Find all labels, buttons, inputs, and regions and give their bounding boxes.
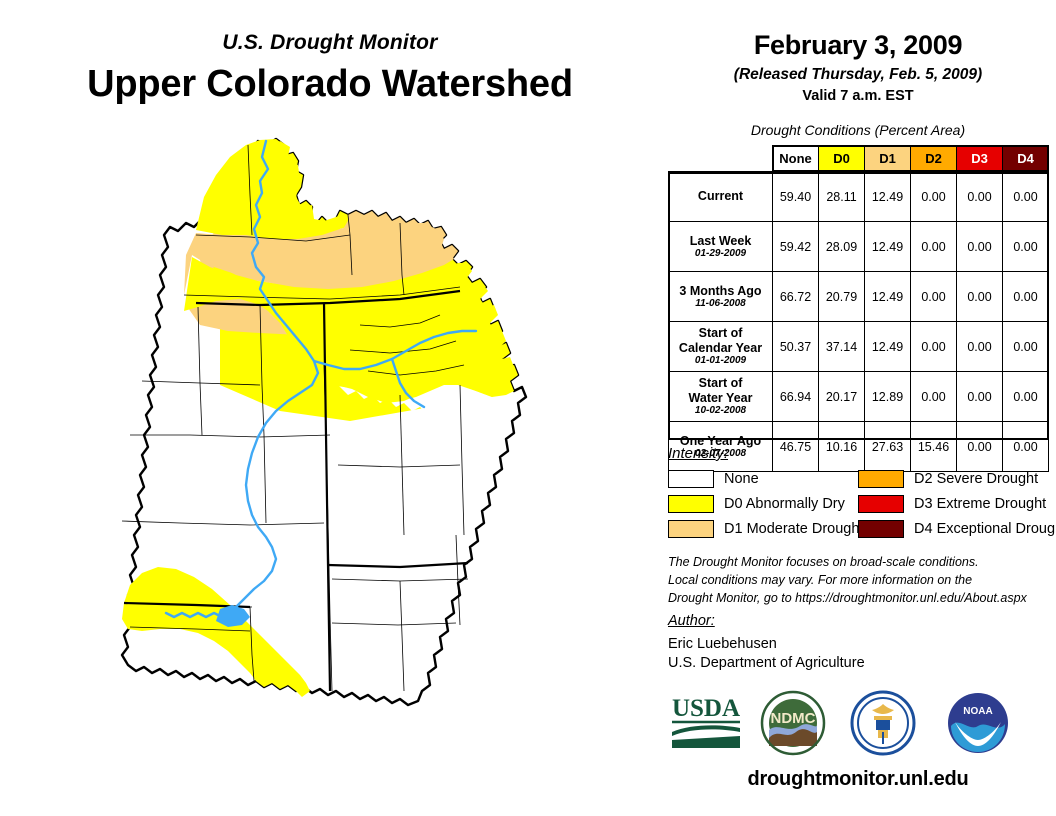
row-label: 3 Months Ago11-06-2008 <box>669 272 773 322</box>
table-cell-d4: 0.00 <box>1003 272 1049 322</box>
table-cell-d1: 12.49 <box>865 322 911 372</box>
table-cell-d0: 28.11 <box>819 172 865 222</box>
row-label-text: 3 Months Ago <box>672 284 769 298</box>
usda-logo-text: USDA <box>672 695 740 722</box>
info-panel: February 3, 2009 (Released Thursday, Feb… <box>660 0 1056 816</box>
table-cell-d0: 20.17 <box>819 372 865 422</box>
logo-row: USDA NDMC <box>660 690 1056 770</box>
map-panel: U.S. Drought Monitor Upper Colorado Wate… <box>0 0 660 816</box>
table-cell-d3: 0.00 <box>957 172 1003 222</box>
table-cell-none: 59.40 <box>773 172 819 222</box>
row-label: Last Week01-29-2009 <box>669 222 773 272</box>
table-cell-d1: 27.63 <box>865 422 911 472</box>
row-label: Start ofCalendar Year01-01-2009 <box>669 322 773 372</box>
note-line: Drought Monitor, go to https://droughtmo… <box>668 590 1050 608</box>
legend-item: None <box>668 466 863 491</box>
table-cell-d1: 12.49 <box>865 172 911 222</box>
table-row: Start ofWater Year10-02-200866.9420.1712… <box>669 372 1049 422</box>
doc-logo <box>850 690 916 761</box>
header-spacer <box>669 146 773 172</box>
legend-label: D3 Extreme Drought <box>914 496 1046 512</box>
drought-monitor-page: U.S. Drought Monitor Upper Colorado Wate… <box>0 0 1056 816</box>
table-cell-none: 66.72 <box>773 272 819 322</box>
row-label-text: Calendar Year <box>672 341 769 355</box>
noaa-logo: NOAA <box>945 690 1011 761</box>
author-organization: U.S. Department of Agriculture <box>668 655 865 671</box>
watershed-map[interactable] <box>100 135 600 815</box>
row-label-text: Last Week <box>672 234 769 248</box>
drought-conditions-table: None D0 D1 D2 D3 D4 Current59.4028.1112.… <box>668 145 1049 472</box>
valid-time: Valid 7 a.m. EST <box>660 88 1056 104</box>
disclaimer-note: The Drought Monitor focuses on broad-sca… <box>668 554 1050 607</box>
column-header-none: None <box>773 146 819 172</box>
legend-label: D4 Exceptional Drought <box>914 521 1056 537</box>
table-cell-d0: 20.79 <box>819 272 865 322</box>
column-header-d3: D3 <box>957 146 1003 172</box>
table-cell-d4: 0.00 <box>1003 172 1049 222</box>
noaa-logo-text: NOAA <box>963 706 992 717</box>
table-cell-none: 66.94 <box>773 372 819 422</box>
table-row: Current59.4028.1112.490.000.000.00 <box>669 172 1049 222</box>
table-header-row: None D0 D1 D2 D3 D4 <box>669 146 1049 172</box>
legend-column-left: NoneD0 Abnormally DryD1 Moderate Drought <box>668 466 863 541</box>
legend-swatch-left-2 <box>668 520 714 538</box>
row-label-text: Start of <box>672 376 769 390</box>
note-line: The Drought Monitor focuses on broad-sca… <box>668 554 1050 572</box>
legend-item: D1 Moderate Drought <box>668 516 863 541</box>
legend-item: D4 Exceptional Drought <box>858 516 1056 541</box>
table-caption: Drought Conditions (Percent Area) <box>660 122 1056 138</box>
table-cell-d1: 12.89 <box>865 372 911 422</box>
legend-item: D0 Abnormally Dry <box>668 491 863 516</box>
column-header-d4: D4 <box>1003 146 1049 172</box>
table-body: Current59.4028.1112.490.000.000.00Last W… <box>669 172 1049 472</box>
table-cell-none: 46.75 <box>773 422 819 472</box>
table-cell-d3: 0.00 <box>957 272 1003 322</box>
legend-swatch-right-0 <box>858 470 904 488</box>
intensity-heading: Intensity: <box>668 445 728 462</box>
ndmc-logo: NDMC <box>760 690 826 761</box>
table-cell-d2: 0.00 <box>911 272 957 322</box>
row-label-date: 10-02-2008 <box>672 405 769 417</box>
author-heading: Author: <box>668 613 715 629</box>
table-cell-d4: 0.00 <box>1003 422 1049 472</box>
note-line: Local conditions may vary. For more info… <box>668 572 1050 590</box>
table-row: Last Week01-29-200959.4228.0912.490.000.… <box>669 222 1049 272</box>
table-cell-d2: 0.00 <box>911 172 957 222</box>
row-label-text: Current <box>672 189 769 203</box>
table-row: 3 Months Ago11-06-200866.7220.7912.490.0… <box>669 272 1049 322</box>
product-title: U.S. Drought Monitor <box>0 31 660 55</box>
table-cell-d4: 0.00 <box>1003 222 1049 272</box>
ndmc-logo-text: NDMC <box>771 710 816 727</box>
table-cell-d3: 0.00 <box>957 372 1003 422</box>
region-title: Upper Colorado Watershed <box>0 63 660 106</box>
legend-item: D3 Extreme Drought <box>858 491 1056 516</box>
column-header-d1: D1 <box>865 146 911 172</box>
table-cell-d1: 12.49 <box>865 222 911 272</box>
legend-swatch-left-0 <box>668 470 714 488</box>
row-label-date: 11-06-2008 <box>672 298 769 310</box>
table-cell-d3: 0.00 <box>957 422 1003 472</box>
table-cell-d3: 0.00 <box>957 222 1003 272</box>
column-header-d0: D0 <box>819 146 865 172</box>
table-cell-d4: 0.00 <box>1003 322 1049 372</box>
legend-swatch-right-1 <box>858 495 904 513</box>
legend-column-right: D2 Severe DroughtD3 Extreme DroughtD4 Ex… <box>858 466 1056 541</box>
legend-item: D2 Severe Drought <box>858 466 1056 491</box>
row-label-date: 01-29-2009 <box>672 248 769 260</box>
legend-swatch-right-2 <box>858 520 904 538</box>
table-cell-none: 59.42 <box>773 222 819 272</box>
usda-logo: USDA <box>668 690 744 755</box>
map-svg <box>100 135 600 815</box>
row-label: Start ofWater Year10-02-2008 <box>669 372 773 422</box>
row-label-date: 01-01-2009 <box>672 355 769 367</box>
release-date: (Released Thursday, Feb. 5, 2009) <box>660 66 1056 84</box>
website-url: droughtmonitor.unl.edu <box>660 768 1056 791</box>
table-cell-d1: 12.49 <box>865 272 911 322</box>
legend-label: D0 Abnormally Dry <box>724 496 845 512</box>
table-cell-d2: 15.46 <box>911 422 957 472</box>
table-cell-d4: 0.00 <box>1003 372 1049 422</box>
table-cell-d2: 0.00 <box>911 372 957 422</box>
row-label: Current <box>669 172 773 222</box>
legend-swatch-left-1 <box>668 495 714 513</box>
column-header-d2: D2 <box>911 146 957 172</box>
table-cell-d0: 28.09 <box>819 222 865 272</box>
table-cell-none: 50.37 <box>773 322 819 372</box>
valid-date: February 3, 2009 <box>660 30 1056 61</box>
legend-label: D1 Moderate Drought <box>724 521 863 537</box>
table-cell-d0: 10.16 <box>819 422 865 472</box>
legend-label: None <box>724 471 759 487</box>
table-cell-d2: 0.00 <box>911 222 957 272</box>
table-cell-d3: 0.00 <box>957 322 1003 372</box>
row-label-text: Start of <box>672 326 769 340</box>
table-cell-d0: 37.14 <box>819 322 865 372</box>
row-label-text: Water Year <box>672 391 769 405</box>
table-cell-d2: 0.00 <box>911 322 957 372</box>
legend-label: D2 Severe Drought <box>914 471 1038 487</box>
table-row: Start ofCalendar Year01-01-200950.3737.1… <box>669 322 1049 372</box>
author-name: Eric Luebehusen <box>668 636 777 652</box>
